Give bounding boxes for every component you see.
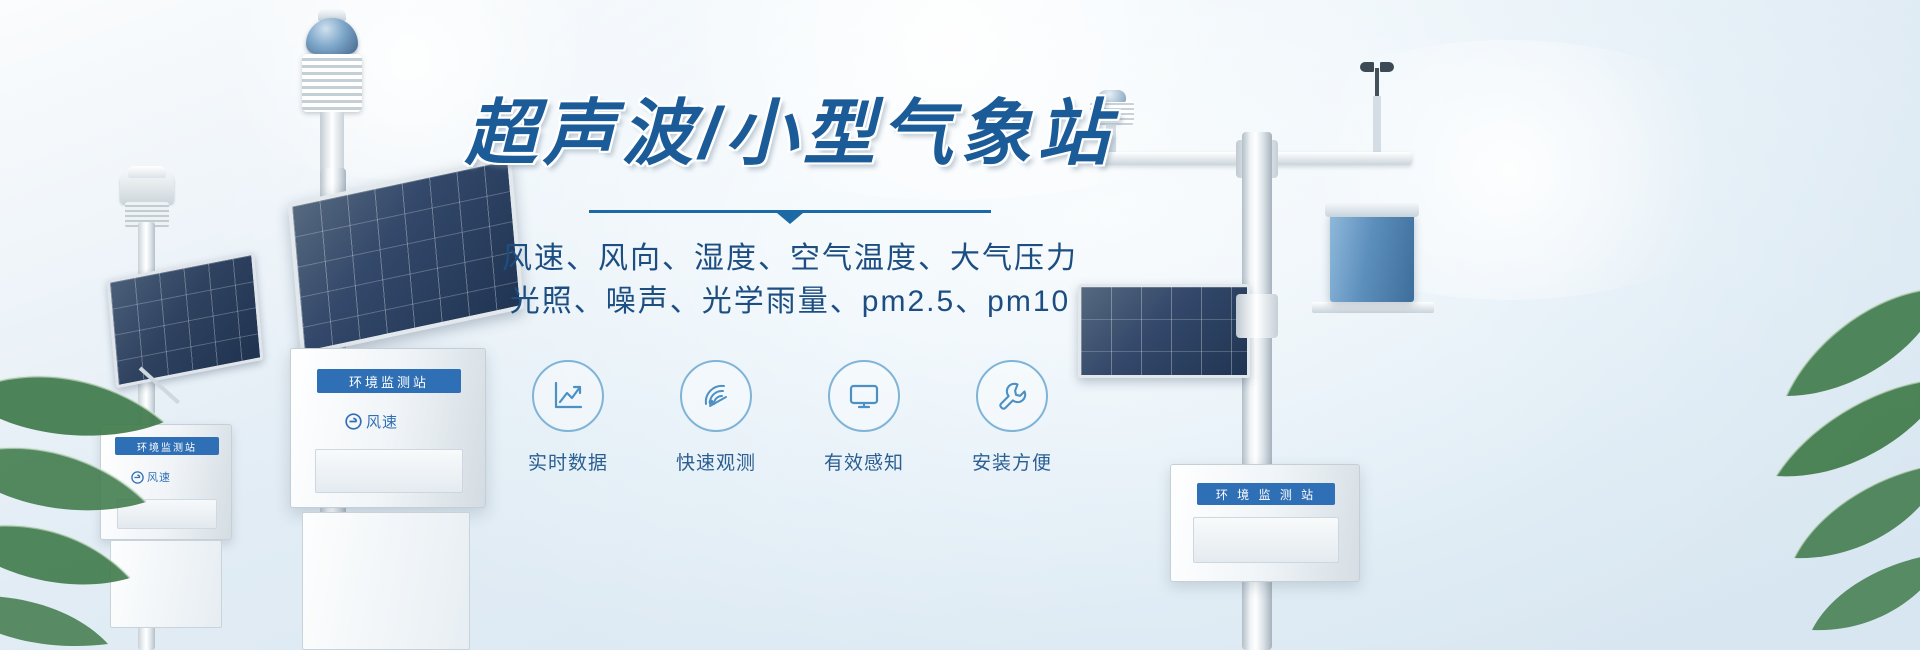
feature-icon-circle — [828, 360, 900, 432]
product-banner: 环境监测站 风速 环境监测站 — [0, 0, 1920, 650]
cabinet-door — [1193, 517, 1339, 563]
rain-gauge — [1330, 212, 1414, 302]
brand-mark-icon — [345, 413, 362, 430]
radar-signal-icon — [697, 377, 735, 415]
solar-panel — [107, 252, 264, 389]
anemometer-stem — [1373, 96, 1381, 154]
wrench-icon — [993, 377, 1031, 415]
control-cabinet: 环 境 监 测 站 — [1170, 464, 1360, 582]
feature-item-effective-sensing[interactable]: 有效感知 — [808, 360, 920, 475]
radiation-shield — [302, 54, 362, 112]
feature-label: 实时数据 — [512, 448, 624, 475]
brand-text: 风速 — [147, 469, 171, 485]
subtitle-line-2: 光照、噪声、光学雨量、pm2.5、pm10 — [440, 281, 1140, 324]
instrument-shelf — [1312, 302, 1434, 313]
feature-item-realtime-data[interactable]: 实时数据 — [512, 360, 624, 475]
brand-mark-icon — [131, 471, 144, 484]
brand-text: 风速 — [366, 411, 398, 432]
brand-logo: 风速 — [131, 469, 171, 485]
cabinet-label: 环 境 监 测 站 — [1197, 483, 1335, 505]
subtitle-line-1: 风速、风向、湿度、空气温度、大气压力 — [440, 238, 1140, 281]
base-enclosure — [302, 512, 470, 650]
feature-label: 有效感知 — [808, 448, 920, 475]
weather-station-small-left: 环境监测站 风速 — [92, 170, 292, 650]
monitor-icon — [845, 377, 883, 415]
feature-label: 快速观测 — [660, 448, 772, 475]
banner-title: 超声波/小型气象站 — [440, 96, 1140, 172]
sensor-neck — [320, 112, 344, 170]
feature-label: 安装方便 — [956, 448, 1068, 475]
down-triangle-icon — [777, 213, 803, 224]
tropical-leaf-decoration-right — [1670, 270, 1920, 650]
feature-icon-circle — [680, 360, 752, 432]
sensor-head — [120, 174, 174, 204]
sky-dome-sensor — [306, 18, 358, 54]
divider — [589, 210, 991, 224]
feature-list: 实时数据 快速观测 — [440, 360, 1140, 475]
feature-item-easy-installation[interactable]: 安装方便 — [956, 360, 1068, 475]
feature-icon-circle — [532, 360, 604, 432]
feature-item-fast-observation[interactable]: 快速观测 — [660, 360, 772, 475]
cabinet-label: 环境监测站 — [115, 437, 219, 455]
line-chart-icon — [549, 377, 587, 415]
cabinet-vent — [117, 499, 217, 529]
brand-logo: 风速 — [345, 411, 398, 432]
cup-anemometer-icon — [1360, 58, 1394, 98]
banner-content: 超声波/小型气象站 风速、风向、湿度、空气温度、大气压力 光照、噪声、光学雨量、… — [440, 96, 1140, 496]
feature-icon-circle — [976, 360, 1048, 432]
base-enclosure — [110, 540, 222, 628]
control-cabinet: 环境监测站 风速 — [100, 424, 232, 540]
mast-collar — [1236, 294, 1278, 338]
